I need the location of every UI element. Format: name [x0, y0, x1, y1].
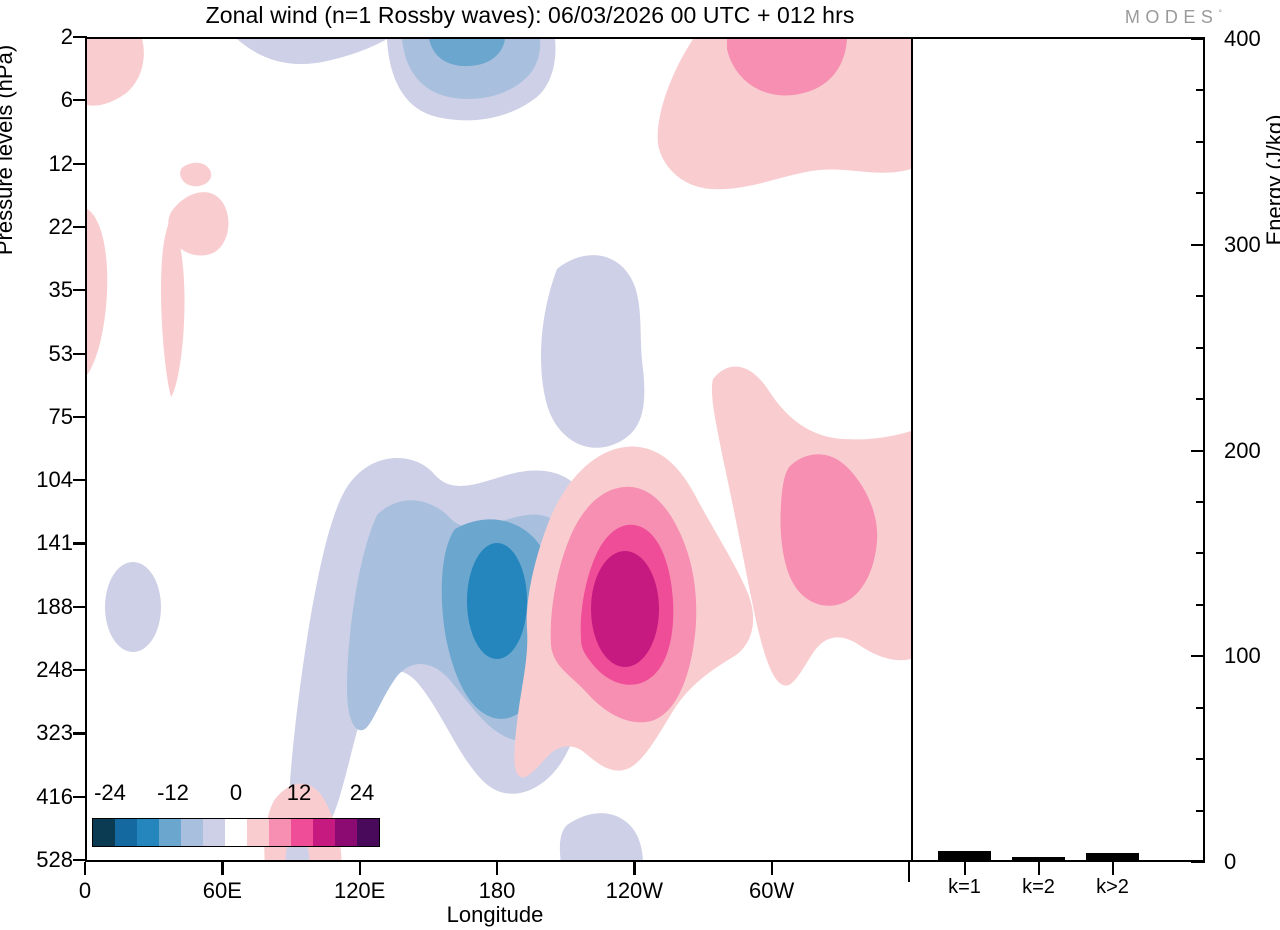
energy-bar [938, 851, 991, 861]
pressure-tick-label: 188 [0, 594, 73, 620]
pressure-tick-label: 141 [0, 530, 73, 556]
energy-minor-tick-mark [1196, 141, 1205, 143]
pressure-tick-label: 2 [0, 24, 73, 50]
colorbar-swatch [137, 819, 159, 846]
pressure-tick-label: 323 [0, 720, 73, 746]
energy-minor-tick-mark [1196, 295, 1205, 297]
longitude-tick-mark [84, 862, 86, 875]
colorbar-swatch [159, 819, 181, 846]
longitude-tick-mark [633, 862, 635, 875]
colorbar-swatch [225, 819, 247, 846]
k-tick-label: k>2 [1053, 876, 1173, 899]
brand-superscript: ° [1218, 8, 1222, 18]
pressure-tick-label: 22 [0, 214, 73, 240]
pressure-tick-label: 528 [0, 847, 73, 873]
longitude-tick-label: 120E [290, 878, 430, 904]
energy-tick-mark [1191, 38, 1205, 40]
energy-tick-label: 0 [1224, 849, 1280, 875]
pressure-tick-mark [73, 606, 87, 608]
pressure-tick-mark [73, 226, 87, 228]
energy-tick-mark [1191, 450, 1205, 452]
pressure-tick-mark [73, 163, 87, 165]
energy-minor-tick-mark [1196, 758, 1205, 760]
pressure-tick-label: 12 [0, 151, 73, 177]
energy-bar [1086, 853, 1139, 861]
pressure-tick-mark [73, 353, 87, 355]
energy-minor-tick-mark [1196, 810, 1205, 812]
longitude-tick-mark [771, 862, 773, 875]
energy-tick-mark [1191, 861, 1205, 863]
energy-minor-tick-mark [1196, 501, 1205, 503]
colorbar-tick-label: 24 [302, 780, 422, 806]
x-axis-label: Longitude [335, 902, 655, 928]
pressure-tick-mark [73, 36, 87, 38]
panel-divider [911, 39, 913, 862]
colorbar-swatch [93, 819, 115, 846]
pressure-tick-mark [73, 669, 87, 671]
longitude-tick-label: 60W [702, 878, 842, 904]
k-tick-mark [964, 862, 966, 875]
energy-minor-tick-mark [1196, 398, 1205, 400]
energy-bar [1012, 857, 1065, 861]
colorbar-swatch [181, 819, 203, 846]
pressure-tick-mark [73, 542, 87, 544]
longitude-tick-mark [359, 862, 361, 875]
energy-minor-tick-mark [1196, 604, 1205, 606]
pressure-tick-mark [73, 99, 87, 101]
pressure-tick-mark [73, 859, 87, 861]
colorbar-swatch [247, 819, 269, 846]
colorbar-swatch [269, 819, 291, 846]
pressure-tick-label: 53 [0, 341, 73, 367]
energy-tick-label: 400 [1224, 26, 1280, 52]
energy-tick-mark [1191, 655, 1205, 657]
colorbar-swatch [115, 819, 137, 846]
brand-text: MODES [1125, 7, 1219, 27]
energy-minor-tick-mark [1196, 707, 1205, 709]
y-axis-right-label: Energy (J/kg) [1262, 30, 1280, 330]
longitude-tick-label: 180 [427, 878, 567, 904]
k-tick-mark [1038, 862, 1040, 875]
contour-field [87, 39, 1205, 862]
pressure-tick-label: 6 [0, 87, 73, 113]
page-title: Zonal wind (n=1 Rossby waves): 06/03/202… [0, 2, 1060, 29]
energy-tick-label: 100 [1224, 643, 1280, 669]
energy-tick-mark [1191, 244, 1205, 246]
longitude-tick-mark [221, 862, 223, 875]
colorbar-swatch [335, 819, 357, 846]
colorbar [92, 818, 380, 847]
pressure-tick-label: 248 [0, 657, 73, 683]
energy-tick-label: 300 [1224, 232, 1280, 258]
longitude-tick-label: 0 [15, 878, 155, 904]
colorbar-swatch [291, 819, 313, 846]
pressure-tick-label: 75 [0, 404, 73, 430]
pressure-tick-mark [73, 416, 87, 418]
colorbar-swatch [313, 819, 335, 846]
energy-minor-tick-mark [1196, 192, 1205, 194]
colorbar-swatch [357, 819, 379, 846]
longitude-tick-label: 60E [152, 878, 292, 904]
pressure-tick-mark [73, 289, 87, 291]
longitude-tick-label: 120W [564, 878, 704, 904]
colorbar-swatch [203, 819, 225, 846]
pressure-tick-label: 35 [0, 277, 73, 303]
longitude-tick-mark [496, 862, 498, 875]
k-tick-mark [1112, 862, 1114, 875]
energy-minor-tick-mark [1196, 347, 1205, 349]
energy-minor-tick-mark [1196, 552, 1205, 554]
pressure-tick-mark [73, 732, 87, 734]
pressure-tick-label: 104 [0, 467, 73, 493]
modes-logo: MODES° [1125, 7, 1222, 28]
contour-plot-panel [85, 37, 1205, 862]
pressure-tick-mark [73, 479, 87, 481]
energy-minor-tick-mark [1196, 89, 1205, 91]
energy-tick-label: 200 [1224, 438, 1280, 464]
